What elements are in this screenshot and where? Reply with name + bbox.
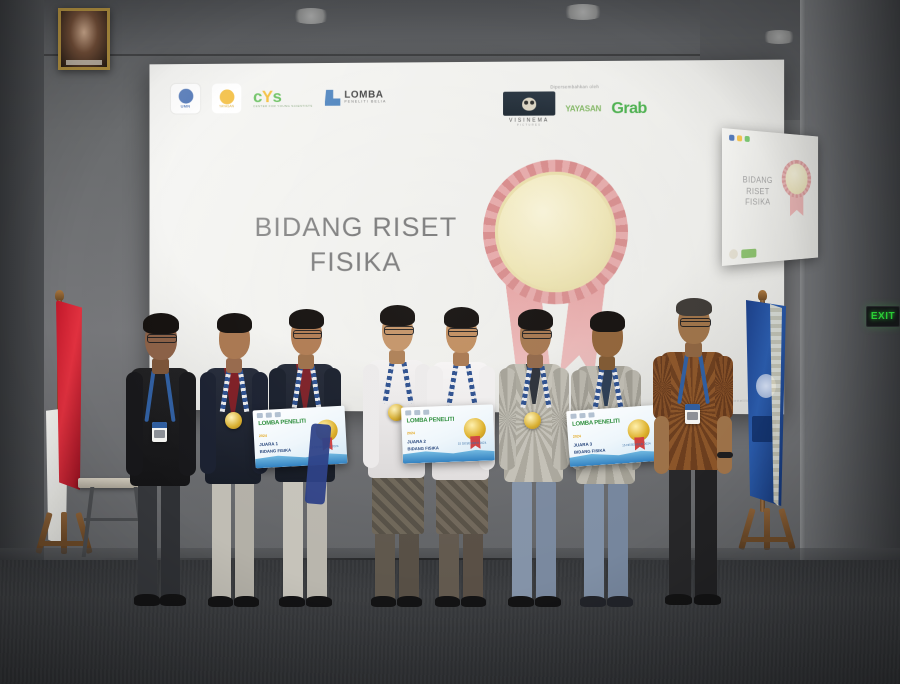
badge-photo bbox=[154, 430, 165, 438]
shoe bbox=[397, 596, 422, 607]
person-student-batik-2: LOMBA PENELITI 2024 JUARA 3 BIDANG FISIK… bbox=[574, 310, 638, 600]
certificate-rank: JUARA 3 bbox=[573, 441, 592, 447]
cys-logo-subtext: CENTER FOR YOUNG SCIENTISTS bbox=[253, 105, 313, 108]
shoe bbox=[665, 594, 692, 605]
certificate-title: LOMBA PENELITI bbox=[406, 417, 454, 425]
yayasan-logo: YAYASAN bbox=[565, 104, 601, 113]
medal bbox=[524, 412, 541, 429]
exit-sign: EXIT bbox=[866, 306, 900, 327]
certificate-juara-1: LOMBA PENELITI 2024 JUARA 1 BIDANG FISIK… bbox=[253, 406, 348, 469]
hair bbox=[380, 305, 415, 326]
umn-logo-text: UMN bbox=[181, 104, 191, 109]
neck bbox=[599, 356, 615, 370]
forearm-right bbox=[717, 416, 732, 474]
ceiling-light-3 bbox=[760, 30, 798, 44]
partner-logo-text: YAYASAN bbox=[219, 104, 234, 108]
leg bbox=[608, 482, 628, 602]
grab-logo: Grab bbox=[611, 99, 646, 117]
wristwatch bbox=[717, 452, 733, 458]
partner-logo: YAYASAN bbox=[212, 83, 241, 113]
badge-photo bbox=[687, 412, 698, 420]
certificate-rank: JUARA 1 bbox=[259, 441, 278, 447]
shoe bbox=[208, 596, 233, 607]
eyeglasses bbox=[680, 318, 711, 327]
arm-left bbox=[499, 368, 516, 470]
leg bbox=[669, 466, 691, 600]
leg bbox=[235, 478, 254, 602]
eyeglasses bbox=[147, 334, 177, 343]
neck bbox=[226, 358, 242, 373]
certificate-logo-row bbox=[257, 409, 341, 418]
arm-right bbox=[179, 372, 196, 476]
certificate-title: LOMBA PENELITI bbox=[572, 419, 620, 429]
president-portrait bbox=[58, 8, 110, 70]
tripod-leg bbox=[764, 508, 770, 550]
neck bbox=[527, 354, 543, 368]
neck bbox=[389, 350, 405, 364]
shoe bbox=[694, 594, 721, 605]
leg bbox=[212, 478, 231, 602]
ceiling-light-2 bbox=[560, 4, 606, 20]
owl-icon bbox=[522, 97, 536, 110]
plaid-skirt bbox=[436, 474, 488, 534]
leg bbox=[512, 480, 532, 602]
lomba-logo-mark bbox=[325, 90, 341, 106]
hair bbox=[143, 313, 179, 334]
visinema-logo: VISINEMA PICTURES bbox=[503, 91, 555, 126]
leg bbox=[138, 478, 157, 600]
table-leg bbox=[82, 487, 95, 557]
umn-logo: UMN bbox=[171, 84, 200, 114]
certificate-juara-3: LOMBA PENELITI 2024 JUARA 3 BIDANG FISIK… bbox=[566, 405, 660, 467]
shoe bbox=[535, 596, 561, 607]
eyeglasses bbox=[522, 330, 552, 339]
medal bbox=[225, 412, 242, 429]
shoe bbox=[508, 596, 534, 607]
shoe bbox=[607, 596, 633, 607]
neck bbox=[152, 358, 169, 374]
id-badge bbox=[152, 422, 167, 442]
hair bbox=[590, 311, 625, 332]
certificate-rank: JUARA 2 bbox=[407, 439, 426, 445]
neck bbox=[453, 352, 469, 366]
neck bbox=[685, 342, 702, 357]
visinema-sub: PICTURES bbox=[503, 124, 555, 127]
leg bbox=[584, 482, 604, 602]
certificate-logo-row bbox=[570, 408, 652, 419]
hair bbox=[217, 313, 252, 333]
shoe bbox=[279, 596, 305, 607]
tripod-crossbar bbox=[742, 537, 792, 542]
rosette-medal-face bbox=[495, 172, 616, 293]
ceiling-light-1 bbox=[290, 8, 332, 24]
person-official-batik bbox=[658, 300, 728, 600]
slide-title-line1: BIDANG RISET bbox=[242, 210, 470, 245]
hair bbox=[518, 309, 553, 330]
person-student-white-2: LOMBA PENELITI 2024 JUARA 2 BIDANG FISIK… bbox=[430, 308, 492, 600]
lomba-logo-line2: PENELITI BELIA bbox=[344, 101, 386, 105]
arm-left bbox=[126, 372, 143, 476]
lomba-logo-wordmark: LOMBA PENELITI BELIA bbox=[344, 90, 386, 104]
shoe bbox=[461, 596, 486, 607]
leg bbox=[283, 478, 303, 602]
side-projection-screen: BIDANG RISET FISIKA bbox=[722, 128, 818, 266]
shoe bbox=[435, 596, 460, 607]
slide-title: BIDANG RISET FISIKA bbox=[242, 210, 470, 279]
certificate-field: BIDANG FISIKA bbox=[407, 445, 439, 451]
certificate-field: BIDANG FISIKA bbox=[260, 447, 292, 454]
arm-left bbox=[200, 372, 216, 474]
flag-tripod-base bbox=[740, 504, 794, 550]
certificate-juara-2: LOMBA PENELITI 2024 JUARA 2 BIDANG FISIK… bbox=[401, 404, 495, 463]
institution-flag bbox=[742, 300, 794, 550]
certificate-year: 2024 bbox=[407, 431, 415, 435]
shoe bbox=[160, 594, 186, 606]
leg bbox=[695, 466, 717, 600]
shoe bbox=[306, 596, 332, 607]
eyeglasses bbox=[384, 326, 414, 335]
hair bbox=[289, 309, 324, 329]
sponsor-logo-row: VISINEMA PICTURES YAYASAN Grab bbox=[503, 91, 647, 127]
neck bbox=[298, 354, 314, 369]
arm-left bbox=[363, 364, 379, 468]
arm-right-sleeve bbox=[715, 356, 733, 420]
presented-by-label: Dipersembahkan oleh bbox=[503, 84, 647, 90]
shoe bbox=[371, 596, 396, 607]
forearm-left bbox=[654, 416, 669, 474]
badge-header bbox=[685, 404, 700, 410]
badge-header bbox=[152, 422, 167, 428]
plaid-skirt bbox=[372, 472, 424, 534]
right-wall bbox=[806, 0, 900, 600]
lomba-logo: LOMBA PENELITI BELIA bbox=[325, 89, 387, 105]
flag-red-band bbox=[56, 300, 82, 490]
leg bbox=[161, 478, 180, 600]
leg bbox=[536, 480, 556, 602]
eyeglasses bbox=[293, 330, 322, 339]
portrait-image bbox=[61, 11, 107, 67]
umn-logo-mark bbox=[178, 89, 193, 104]
shoe bbox=[234, 596, 259, 607]
person-student-blazer-2: LOMBA PENELITI 2024 JUARA 1 BIDANG FISIK… bbox=[272, 306, 338, 600]
certificate-year: 2024 bbox=[259, 434, 267, 438]
eyeglasses bbox=[448, 328, 478, 337]
slide-logo-row: UMN YAYASAN cYs CENTER FOR YOUNG SCIENTI… bbox=[171, 83, 387, 114]
portrait-plate bbox=[66, 60, 103, 65]
slide-title-line2: FISIKA bbox=[242, 244, 470, 279]
id-badge bbox=[685, 404, 700, 424]
side-screen-sheen bbox=[722, 128, 818, 266]
hair bbox=[444, 307, 479, 328]
exit-sign-label: EXIT bbox=[871, 311, 895, 322]
tripod-leg bbox=[778, 508, 795, 550]
visinema-logo-box bbox=[503, 91, 555, 115]
shoe bbox=[580, 596, 606, 607]
person-student-batik-1 bbox=[502, 308, 566, 600]
certificate-field: BIDANG FISIKA bbox=[574, 448, 606, 455]
certificate-title: LOMBA PENELITI bbox=[258, 419, 306, 428]
shoe bbox=[134, 594, 160, 606]
certificate-logo-row bbox=[405, 408, 489, 416]
person-teacher-left bbox=[128, 310, 194, 600]
cys-logo: cYs CENTER FOR YOUNG SCIENTISTS bbox=[253, 88, 313, 108]
partner-logo-mark bbox=[219, 89, 234, 104]
tripod-leg bbox=[738, 508, 755, 550]
hair bbox=[676, 298, 712, 316]
certificate-year: 2024 bbox=[573, 434, 581, 439]
sponsor-block: Dipersembahkan oleh VISINEMA PICTURES YA… bbox=[503, 84, 647, 127]
arm-left-sleeve bbox=[653, 356, 671, 420]
event-photograph: EXIT UMN YAYASAN cYs CENTER FOR YOUNG SC… bbox=[0, 0, 900, 684]
